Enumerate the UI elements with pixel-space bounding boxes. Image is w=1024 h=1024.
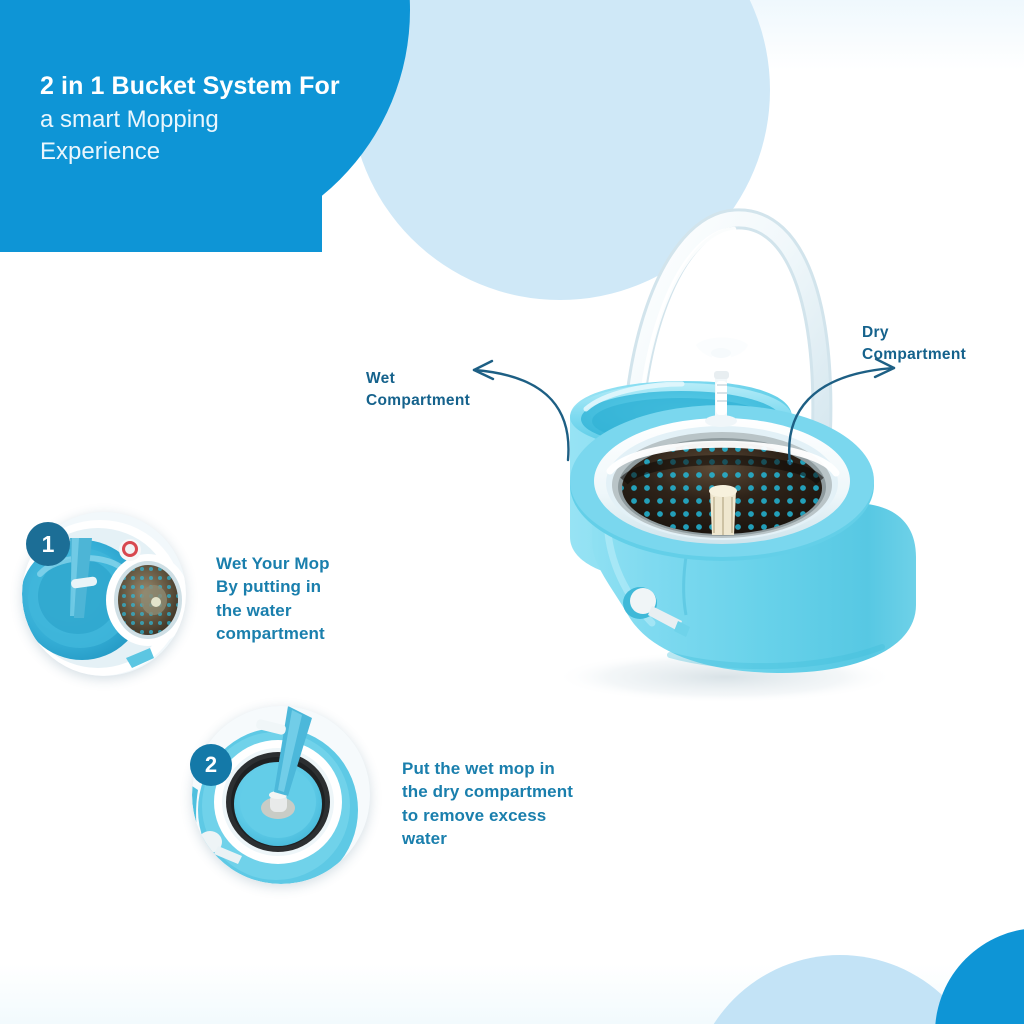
callout-wet-compartment: Wet Compartment [366, 368, 516, 412]
step-1-line3: the water [216, 599, 388, 622]
step-2-number-badge: 2 [190, 744, 232, 786]
callout-wet-line2: Compartment [366, 390, 516, 412]
callout-wet-line1: Wet [366, 368, 516, 390]
headline-light-line1: a smart Mopping [40, 105, 460, 135]
step-2-text: Put the wet mop in the dry compartment t… [402, 757, 632, 851]
dry-compartment-spinner [570, 405, 874, 561]
step-2-photo [192, 706, 370, 884]
callout-dry-compartment: Dry Compartment [862, 322, 1022, 366]
step-2-line4: water [402, 827, 632, 850]
step-2-line2: the dry compartment [402, 780, 632, 803]
step-1-line2: By putting in [216, 575, 388, 598]
headline-block: 2 in 1 Bucket System For a smart Mopping… [40, 72, 460, 167]
step-1-line4: compartment [216, 622, 388, 645]
step-1-text: Wet Your Mop By putting in the water com… [216, 552, 388, 646]
headline-bold: 2 in 1 Bucket System For [40, 72, 460, 102]
product-image-spin-mop-bucket [500, 185, 940, 705]
step-1-number: 1 [42, 531, 55, 558]
callout-dry-line1: Dry [862, 322, 1022, 344]
step-2-line3: to remove excess [402, 804, 632, 827]
spinner-spindle [709, 485, 737, 535]
callout-dry-line2: Compartment [862, 344, 1022, 366]
step-1-number-badge: 1 [26, 522, 70, 566]
headline-light-line2: Experience [40, 137, 460, 167]
step-2-line1: Put the wet mop in [402, 757, 632, 780]
step-2-number: 2 [205, 752, 217, 778]
bottom-gradient-wash [0, 964, 1024, 1024]
infographic-poster: 2 in 1 Bucket System For a smart Mopping… [0, 0, 1024, 1024]
step-1-line1: Wet Your Mop [216, 552, 388, 575]
